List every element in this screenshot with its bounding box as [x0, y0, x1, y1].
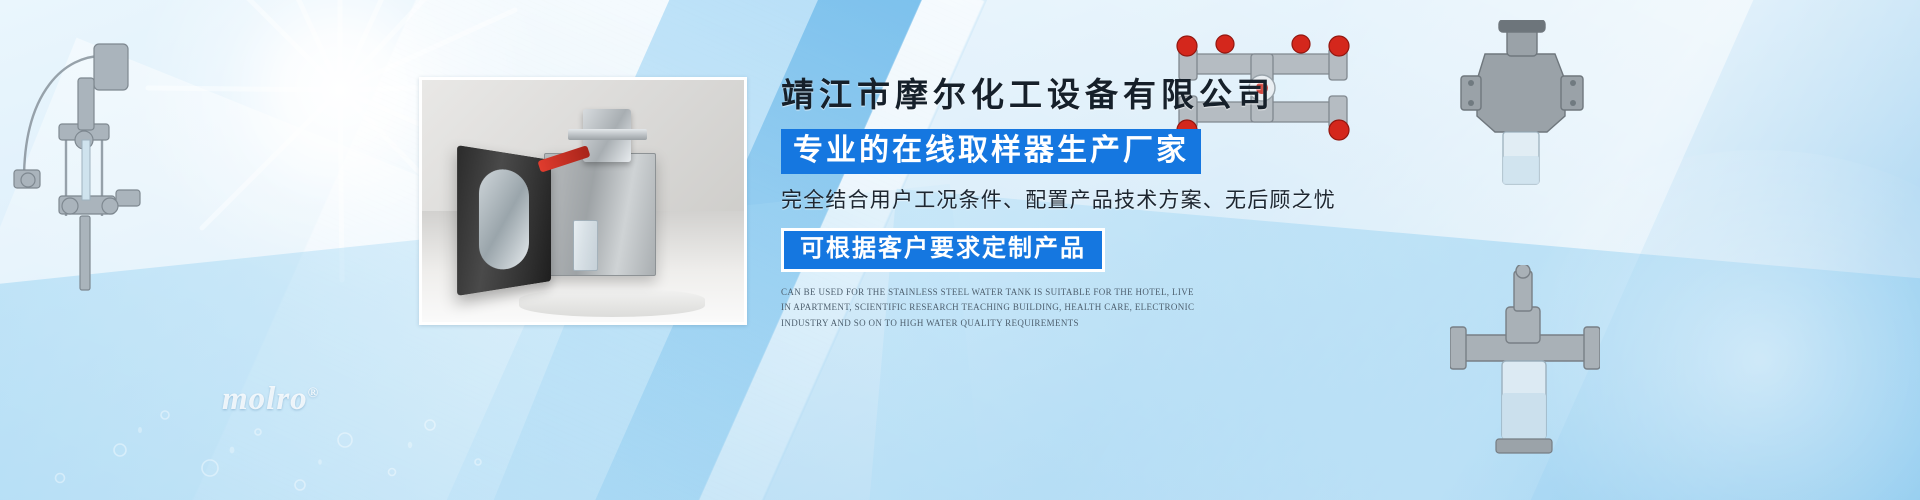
photo-sample-bottle: [573, 220, 598, 270]
promo-banner: 靖江市摩尔化工设备有限公司 专业的在线取样器生产厂家 完全结合用户工况条件、配置…: [0, 0, 1920, 500]
product-photo: [419, 77, 747, 325]
photo-pedestal: [519, 288, 706, 317]
sub-headline: 完全结合用户工况条件、配置产品技术方案、无后顾之忧: [781, 188, 1421, 213]
watermark-registered-mark: ®: [308, 386, 319, 401]
watermark-text: molro: [222, 381, 308, 417]
callout-box: 可根据客户要求定制产品: [781, 228, 1105, 271]
company-title: 靖江市摩尔化工设备有限公司: [781, 78, 1421, 116]
english-paragraph: CAN BE USED FOR THE STAINLESS STEEL WATE…: [781, 285, 1201, 332]
product-photo-image: [422, 80, 744, 322]
photo-cabinet: [544, 153, 655, 276]
right-glow: [1480, 150, 1920, 500]
banner-copy: 靖江市摩尔化工设备有限公司 专业的在线取样器生产厂家 完全结合用户工况条件、配置…: [781, 78, 1421, 332]
inline-sampler-unit-icon: [1450, 265, 1600, 480]
headline-band: 专业的在线取样器生产厂家: [781, 129, 1201, 174]
photo-cabinet-door: [457, 145, 551, 296]
watermark-logo: molro®: [222, 381, 319, 418]
sampling-valve-assembly-icon: [6, 20, 176, 310]
photo-valve-head: [583, 109, 631, 162]
flanged-sampler-body-icon: [1455, 20, 1590, 195]
